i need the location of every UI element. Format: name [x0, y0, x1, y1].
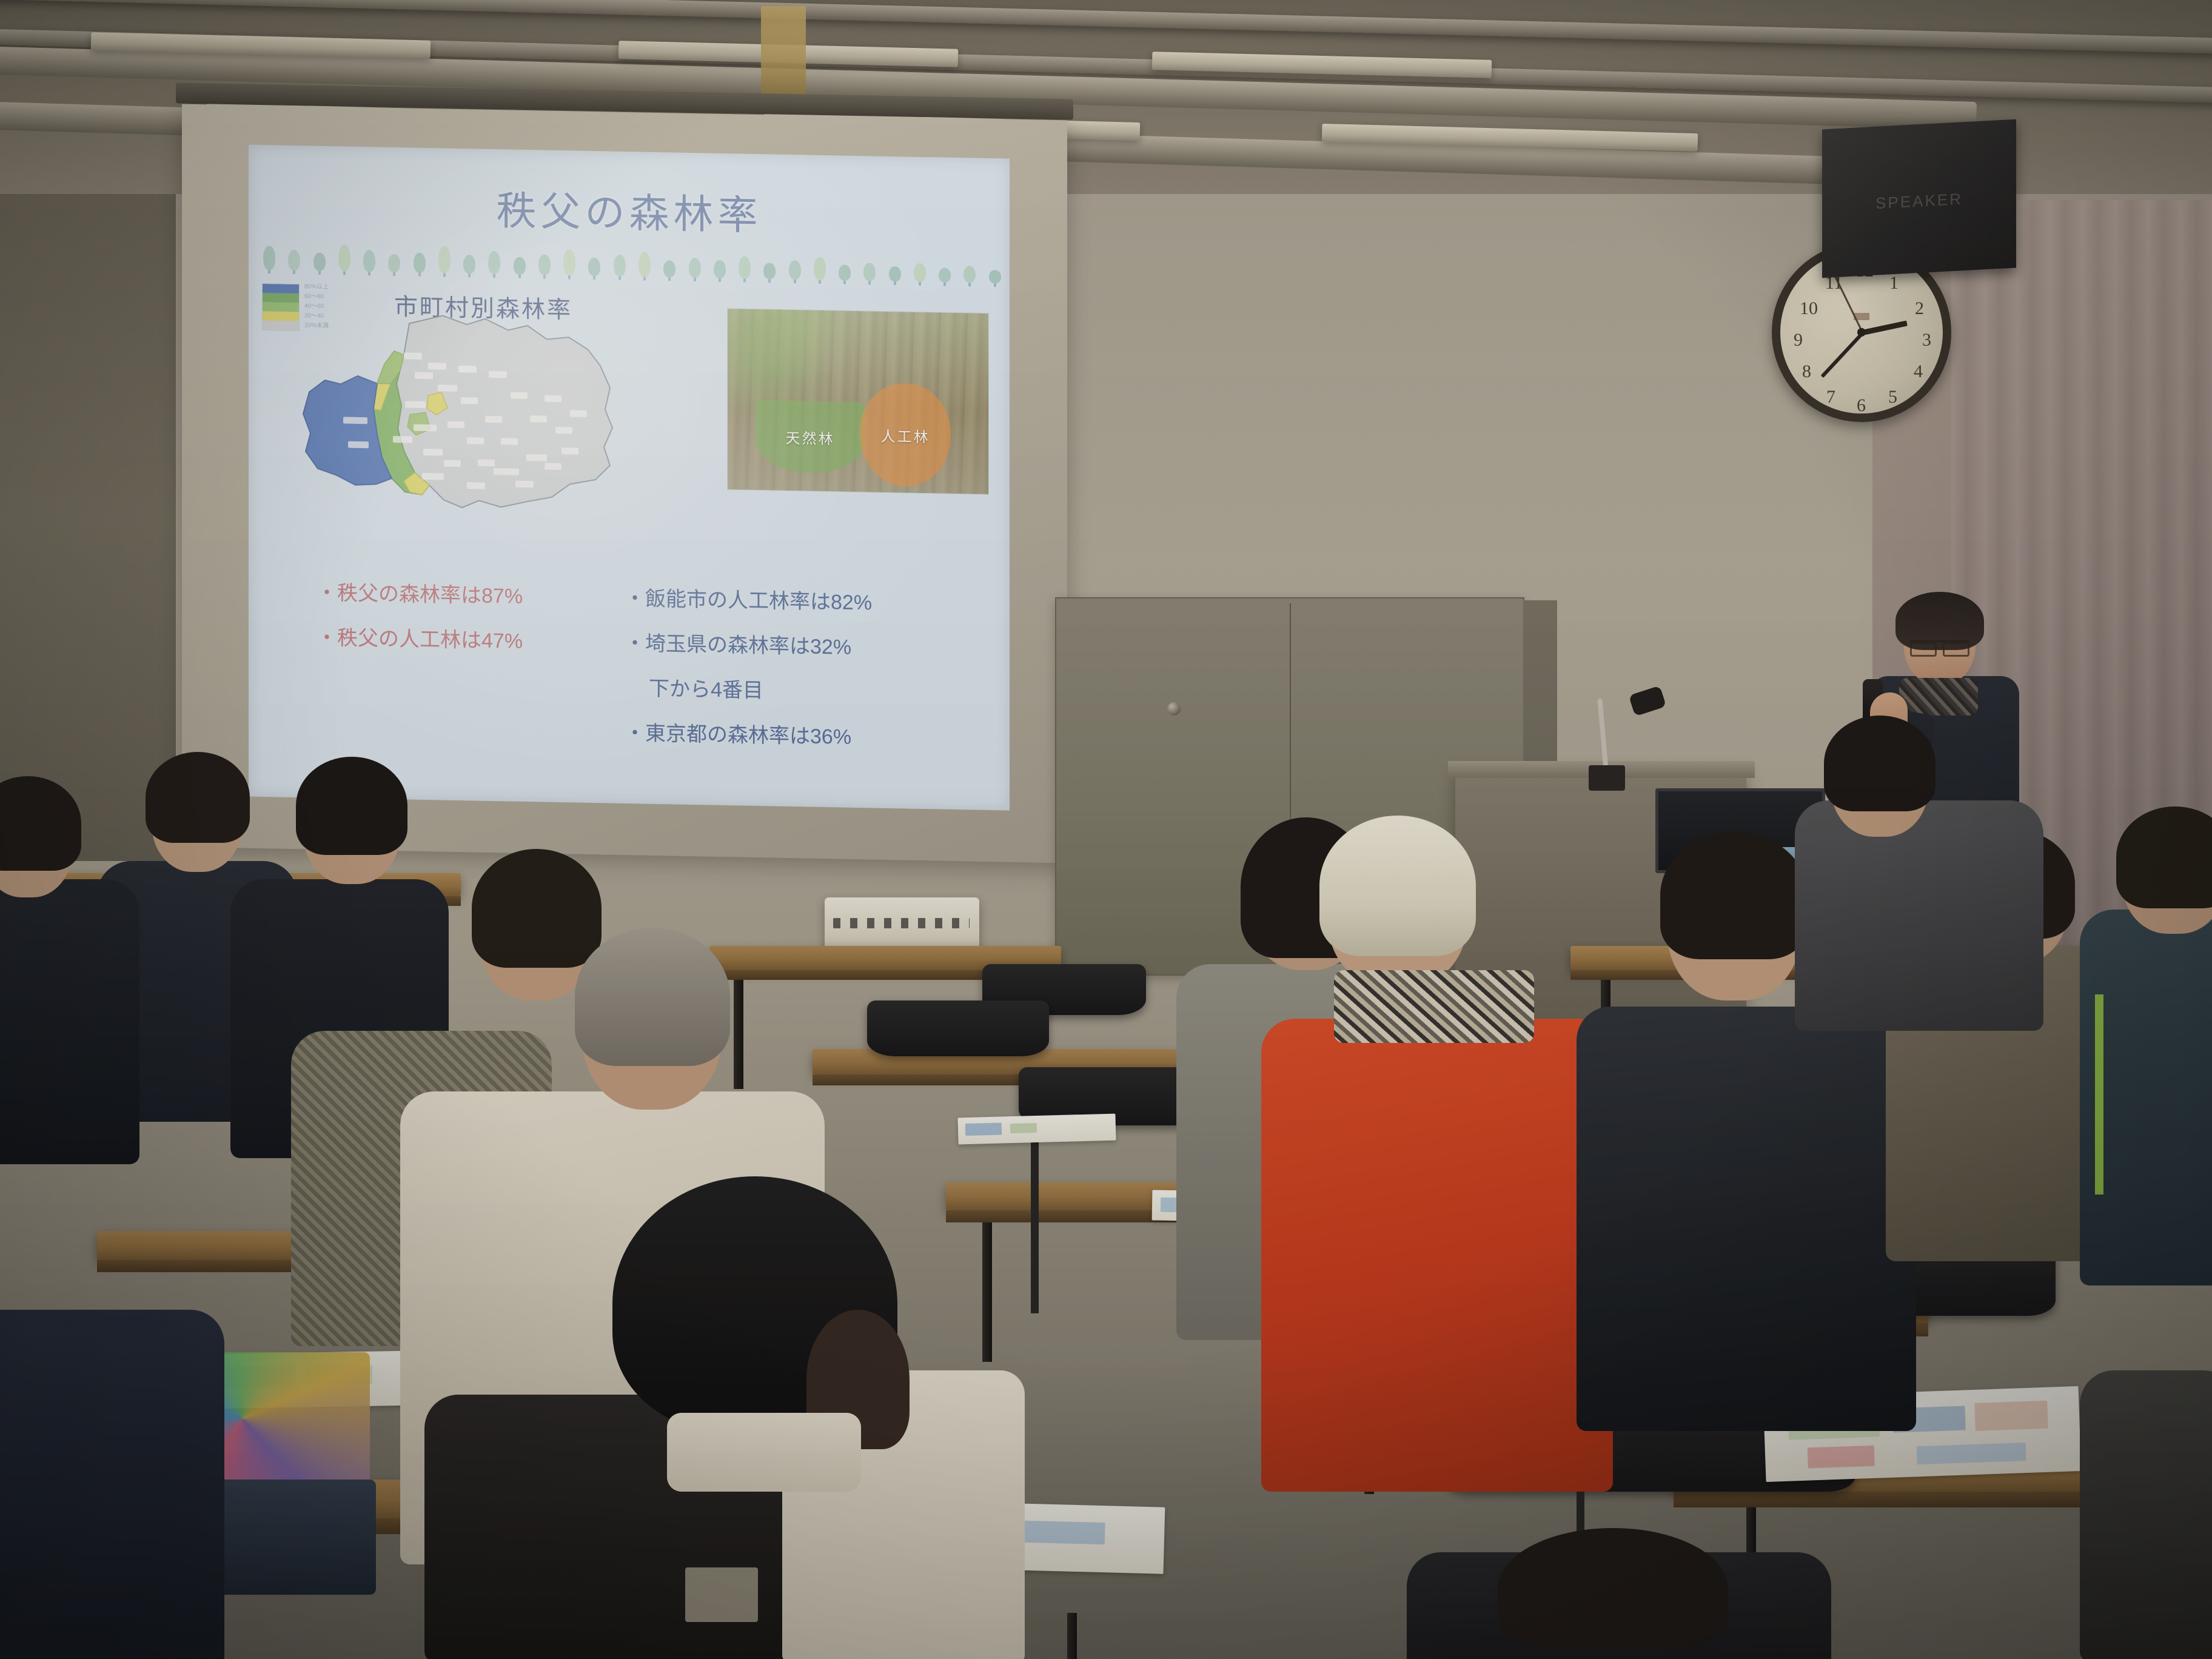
audience-hair — [1319, 816, 1476, 956]
clock-hour-hand — [1864, 321, 1908, 335]
desk-leg — [982, 1222, 992, 1362]
audience-torso — [1577, 1007, 1916, 1431]
natural-forest-label: 天然林 — [756, 400, 865, 474]
audience-hair — [146, 752, 250, 843]
tree-icon — [563, 249, 575, 279]
legend-label: 80%以上 — [304, 283, 348, 292]
chair[interactable] — [867, 1000, 1049, 1056]
audience-torso — [1795, 800, 2043, 1031]
clock-second-hand — [1834, 275, 1863, 333]
microphone-base — [1589, 765, 1625, 791]
tree-icon — [638, 252, 651, 280]
bullet-item: ・秩父の森林率は87% — [317, 571, 602, 621]
tree-icon — [939, 267, 951, 286]
tree-icon — [789, 260, 801, 283]
bullet-item: ・埼玉県の森林率は32% — [625, 621, 928, 671]
desk-leg — [734, 980, 743, 1089]
tree-icon — [514, 257, 526, 278]
tree-icon — [763, 263, 776, 283]
desk-leg — [1067, 1613, 1077, 1659]
bullet-item: ・飯能市の人工林率は82% — [625, 576, 928, 626]
bullet-column-right: ・飯能市の人工林率は82% ・埼玉県の森林率は32% 下から4番目 ・東京都の森… — [625, 576, 928, 761]
audience-torso — [2080, 1370, 2212, 1659]
projector-ports — [833, 918, 970, 928]
audience-torso — [0, 879, 139, 1164]
tree-icon — [814, 257, 826, 284]
clock-numeral: 5 — [1888, 387, 1897, 407]
tree-icon — [989, 270, 1001, 287]
chair-leg — [1031, 1125, 1039, 1313]
bullet-column-left: ・秩父の森林率は87% ・秩父の人工林は47% — [317, 571, 602, 666]
glasses-icon — [1910, 640, 1969, 652]
bullet-item: 下から4番目 — [625, 666, 928, 716]
presenter-scarf — [1899, 678, 1978, 716]
projection-screen: 秩父の森林率 — [182, 104, 1067, 863]
turtleneck-collar — [667, 1413, 861, 1492]
presentation-slide: 秩父の森林率 — [249, 145, 1010, 811]
tree-icon — [363, 250, 375, 275]
tree-icon — [488, 251, 500, 278]
lapel-tag — [685, 1567, 758, 1622]
clock-numeral: 1 — [1889, 273, 1899, 293]
forest-canopy — [728, 309, 853, 416]
clock-minute-hand — [1821, 331, 1865, 378]
clock-numeral: 3 — [1922, 330, 1931, 350]
clock-numeral: 2 — [1915, 298, 1924, 319]
clock-numeral: 9 — [1794, 330, 1803, 350]
tree-icon — [663, 260, 675, 281]
audience-hair — [575, 928, 730, 1066]
tree-icon — [414, 253, 426, 276]
plantation-forest-label: 人工林 — [860, 383, 951, 488]
map-svg — [285, 297, 625, 546]
tree-icon — [863, 263, 876, 284]
jacket-trim — [2095, 994, 2103, 1195]
audience-hair — [1660, 832, 1808, 959]
tree-icon — [739, 256, 751, 282]
tree-icon — [964, 266, 976, 286]
ceiling-fixture — [761, 6, 806, 97]
clock-center-pin — [1857, 328, 1866, 337]
tree-icon — [588, 258, 600, 280]
tree-icon — [689, 258, 701, 281]
tree-icon — [263, 246, 275, 273]
audience-torso — [0, 1310, 224, 1659]
handout[interactable] — [957, 1114, 1116, 1145]
audience-hair — [1824, 716, 1935, 811]
tree-icon — [914, 263, 926, 286]
tree-icon — [313, 253, 326, 275]
tree-icon — [338, 244, 350, 275]
audience-hair — [1498, 1528, 1728, 1649]
forest-comparison-photo: 天然林 人工林 — [727, 308, 989, 495]
speaker-label: SPEAKER — [1875, 190, 1963, 213]
clock-numeral: 7 — [1826, 387, 1835, 407]
tree-icon — [438, 246, 451, 276]
saitama-forest-rate-map — [285, 297, 625, 546]
tree-icon — [889, 266, 901, 285]
bullet-item: ・東京都の森林率は36% — [625, 711, 928, 761]
slide-title: 秩父の森林率 — [249, 174, 1010, 246]
clock-numeral: 4 — [1914, 361, 1923, 382]
tree-icon — [614, 255, 626, 280]
tree-icon — [714, 260, 726, 282]
plaid-scarf — [1334, 970, 1534, 1043]
audience-hair — [472, 849, 602, 968]
tree-icon — [839, 264, 851, 284]
tree-icon — [538, 254, 551, 278]
clock-numeral: 10 — [1800, 298, 1818, 319]
audience-hair — [296, 757, 407, 855]
bullet-item: ・秩父の人工林は47% — [317, 615, 602, 666]
cabinet-knob-icon[interactable] — [1167, 702, 1181, 716]
tree-icon — [463, 255, 475, 277]
clock-numeral: 6 — [1857, 395, 1866, 416]
wall-speaker: SPEAKER — [1822, 119, 2016, 278]
tree-icon — [288, 250, 300, 274]
clock-numeral: 8 — [1802, 361, 1811, 382]
lecture-hall-photo: 秩父の森林率 — [0, 0, 2212, 1659]
tree-icon — [388, 254, 400, 276]
audience-torso — [1261, 1019, 1613, 1492]
